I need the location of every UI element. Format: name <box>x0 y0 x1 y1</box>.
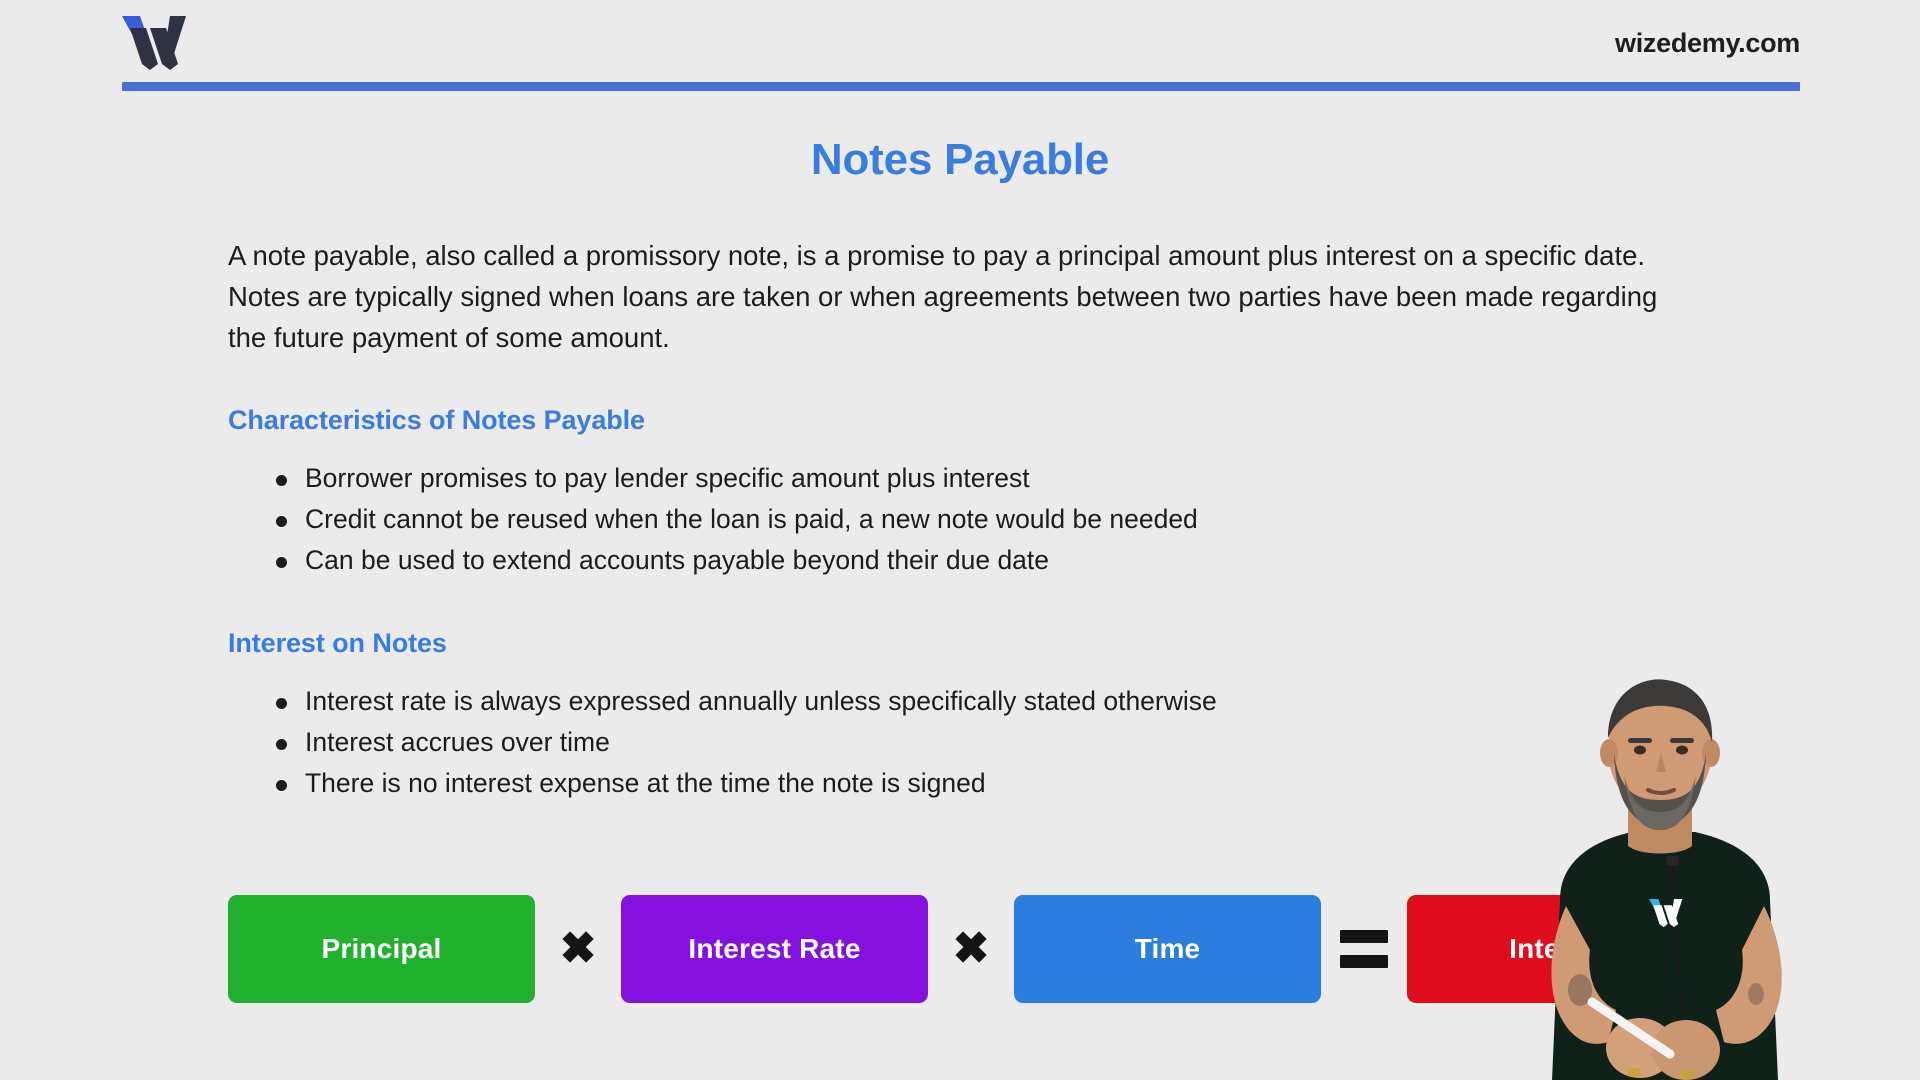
slide-content: A note payable, also called a promissory… <box>228 235 1698 804</box>
list-item-text: Credit cannot be reused when the loan is… <box>305 504 1198 534</box>
equals-operator <box>1321 930 1407 968</box>
list-item: Interest accrues over time <box>228 722 1698 763</box>
site-url-label: wizedemy.com <box>1615 28 1800 59</box>
page-title: Notes Payable <box>0 135 1920 185</box>
bullet-list-characteristics: Borrower promises to pay lender specific… <box>228 458 1698 581</box>
bullet-dot-icon <box>276 739 287 750</box>
formula-box-time: Time <box>1014 895 1321 1003</box>
interest-formula-row: Principal ✖ Interest Rate ✖ Time Interes… <box>228 895 1714 1003</box>
bullet-dot-icon <box>276 516 287 527</box>
list-item: Borrower promises to pay lender specific… <box>228 458 1698 499</box>
formula-box-interest-rate: Interest Rate <box>621 895 928 1003</box>
intro-paragraph: A note payable, also called a promissory… <box>228 235 1688 358</box>
bullet-list-interest: Interest rate is always expressed annual… <box>228 681 1698 804</box>
list-item: There is no interest expense at the time… <box>228 763 1698 804</box>
bullet-dot-icon <box>276 475 287 486</box>
header-divider-rule <box>122 82 1800 91</box>
multiply-operator-1: ✖ <box>535 927 621 971</box>
wize-logo <box>120 14 200 72</box>
slide-root: wizedemy.com Notes Payable A note payabl… <box>0 0 1920 1080</box>
formula-box-interest: Interest <box>1407 895 1714 1003</box>
bullet-dot-icon <box>276 698 287 709</box>
list-item: Can be used to extend accounts payable b… <box>228 540 1698 581</box>
bullet-dot-icon <box>276 780 287 791</box>
list-item: Credit cannot be reused when the loan is… <box>228 499 1698 540</box>
equals-bar-top <box>1340 930 1388 943</box>
section-heading-interest-on-notes: Interest on Notes <box>228 628 1698 659</box>
slide-header: wizedemy.com <box>0 0 1920 96</box>
list-item-text: There is no interest expense at the time… <box>305 768 986 798</box>
formula-box-principal: Principal <box>228 895 535 1003</box>
bullet-dot-icon <box>276 557 287 568</box>
list-item-text: Interest rate is always expressed annual… <box>305 686 1217 716</box>
section-heading-characteristics: Characteristics of Notes Payable <box>228 405 1698 436</box>
list-item: Interest rate is always expressed annual… <box>228 681 1698 722</box>
multiply-operator-2: ✖ <box>928 927 1014 971</box>
list-item-text: Interest accrues over time <box>305 727 610 757</box>
list-item-text: Can be used to extend accounts payable b… <box>305 545 1049 575</box>
list-item-text: Borrower promises to pay lender specific… <box>305 463 1030 493</box>
equals-bar-bottom <box>1340 955 1388 968</box>
